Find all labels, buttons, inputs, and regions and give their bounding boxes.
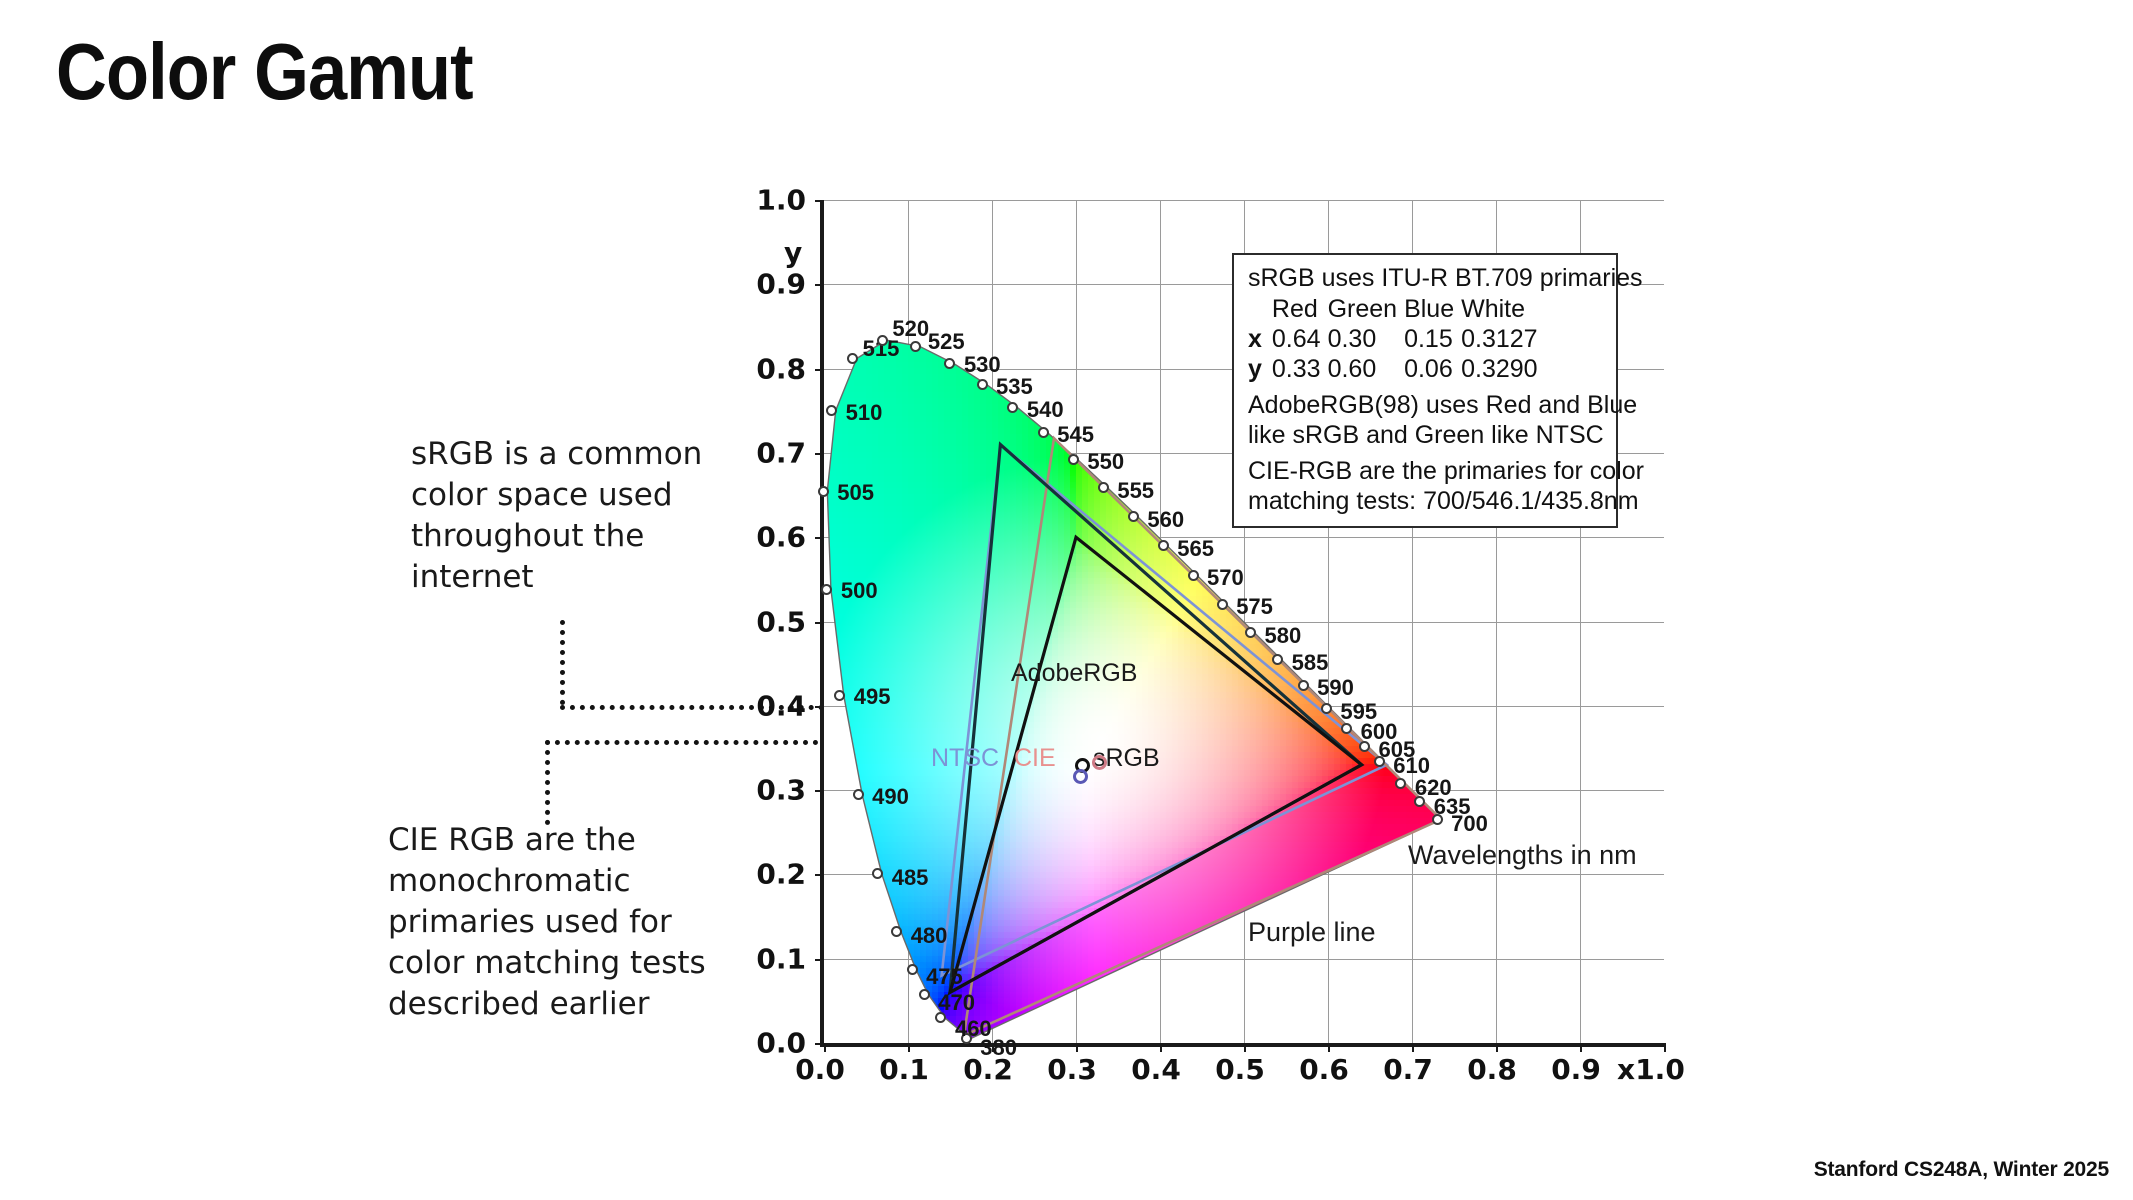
x-axis-tick: [1076, 1043, 1078, 1052]
wavelength-marker: [977, 379, 988, 390]
info-cierbg-line-2: matching tests: 700/546.1/435.8nm: [1248, 486, 1604, 516]
wavelength-label: 495: [854, 684, 891, 710]
wavelength-label: 580: [1265, 623, 1302, 649]
wavelength-marker: [1068, 454, 1079, 465]
cell-x-green: 0.30: [1328, 324, 1404, 354]
y-tick-label: 0.4: [756, 689, 806, 722]
y-tick-label: 0.9: [756, 268, 806, 301]
wavelength-marker: [818, 486, 829, 497]
wavelength-label: 500: [841, 578, 878, 604]
x-tick-label: 0.6: [1299, 1053, 1349, 1086]
y-axis-name: y: [784, 236, 802, 269]
wavelength-label: 520: [892, 316, 929, 342]
cell-x-blue: 0.15: [1404, 324, 1461, 354]
x-axis-tick: [1328, 1043, 1330, 1052]
cell-y-green: 0.60: [1328, 354, 1404, 384]
wavelength-label: 585: [1292, 650, 1329, 676]
header-green: Green: [1328, 294, 1404, 324]
x-axis-tick: [1580, 1043, 1582, 1052]
x-axis-tick: [1664, 1043, 1666, 1052]
y-axis-tick: [815, 284, 824, 286]
annotation-srgb-text: sRGB is a common color space used throug…: [411, 434, 731, 598]
wavelength-label: 545: [1057, 422, 1094, 448]
x-tick-label: 1.0: [1635, 1053, 1685, 1086]
y-tick-label: 0.0: [756, 1027, 806, 1060]
header-white: White: [1461, 294, 1544, 324]
info-adobergb-line-1: AdobeRGB(98) uses Red and Blue: [1248, 390, 1604, 420]
x-axis-tick: [824, 1043, 826, 1052]
y-axis-tick: [815, 200, 824, 202]
y-axis-tick: [815, 874, 824, 876]
header-red: Red: [1272, 294, 1328, 324]
wavelength-marker: [1217, 599, 1228, 610]
x-tick-label: 0.7: [1383, 1053, 1433, 1086]
cell-x-white: 0.3127: [1461, 324, 1544, 354]
wavelength-label: 575: [1236, 594, 1273, 620]
annotation-cie-text: CIE RGB are the monochromatic primaries …: [388, 820, 708, 1025]
x-axis-tick: [1412, 1043, 1414, 1052]
label-ntsc: NTSC: [931, 744, 999, 773]
table-header-row: Red Green Blue White: [1248, 294, 1545, 324]
info-line-1: sRGB uses ITU-R BT.709 primaries: [1248, 263, 1604, 293]
wavelength-marker: [853, 789, 864, 800]
wavelength-label: 540: [1027, 397, 1064, 423]
y-tick-label: 0.1: [756, 942, 806, 975]
y-axis-tick: [815, 369, 824, 371]
primaries-table: Red Green Blue White x 0.64 0.30 0.15 0.…: [1248, 294, 1545, 384]
x-tick-label: 0.9: [1551, 1053, 1601, 1086]
x-axis-name: x: [1617, 1053, 1635, 1086]
slide-root: Color Gamut sRGB is a common color space…: [0, 0, 2133, 1200]
wavelength-label: 490: [872, 784, 909, 810]
wavelength-label: 550: [1087, 449, 1124, 475]
page-title: Color Gamut: [56, 26, 473, 118]
white-point-ntsc: [1073, 769, 1088, 784]
label-cie: CIE: [1014, 744, 1056, 773]
y-tick-label: 0.8: [756, 352, 806, 385]
wavelength-label: 510: [846, 400, 883, 426]
wavelength-marker: [1188, 570, 1199, 581]
x-tick-label: 0.4: [1131, 1053, 1181, 1086]
x-tick-label: 0.1: [879, 1053, 929, 1086]
header-blank: [1248, 294, 1272, 324]
header-blue: Blue: [1404, 294, 1461, 324]
y-axis-tick: [815, 790, 824, 792]
y-axis-tick: [815, 959, 824, 961]
wavelength-label: 470: [938, 990, 975, 1016]
connector-cie-vertical: [545, 740, 550, 825]
y-axis-tick: [815, 453, 824, 455]
wavelength-marker: [1432, 814, 1443, 825]
y-tick-label: 0.3: [756, 774, 806, 807]
label-purple-line: Purple line: [1248, 917, 1376, 948]
wavelength-marker: [834, 690, 845, 701]
wavelength-label: 570: [1207, 565, 1244, 591]
x-tick-label: 0.8: [1467, 1053, 1517, 1086]
wavelength-label: 480: [911, 923, 948, 949]
wavelength-marker: [919, 989, 930, 1000]
wavelength-marker: [1298, 680, 1309, 691]
wavelength-label: 485: [892, 865, 929, 891]
row-label-x: x: [1248, 324, 1272, 354]
connector-srgb-vertical: [560, 620, 565, 705]
x-tick-label: 0.3: [1047, 1053, 1097, 1086]
wavelength-marker: [1098, 482, 1109, 493]
y-tick-label: 1.0: [756, 184, 806, 217]
wavelength-marker: [1395, 778, 1406, 789]
white-point-cie: [1092, 755, 1107, 770]
y-axis-tick: [815, 1043, 824, 1045]
wavelength-marker: [1038, 427, 1049, 438]
info-adobergb-line-2: like sRGB and Green like NTSC: [1248, 420, 1604, 450]
table-row: y 0.33 0.60 0.06 0.3290: [1248, 354, 1545, 384]
wavelength-marker: [1007, 402, 1018, 413]
wavelength-label: 700: [1451, 811, 1488, 837]
x-axis-tick: [1496, 1043, 1498, 1052]
wavelength-marker: [877, 335, 888, 346]
x-axis-tick: [1244, 1043, 1246, 1052]
info-cierbg-line-1: CIE-RGB are the primaries for color: [1248, 456, 1604, 486]
cell-y-red: 0.33: [1272, 354, 1328, 384]
y-tick-label: 0.2: [756, 858, 806, 891]
wavelength-label: 525: [928, 329, 965, 355]
label-wavelengths-in-nm: Wavelengths in nm: [1408, 840, 1637, 871]
y-tick-label: 0.6: [756, 521, 806, 554]
row-label-y: y: [1248, 354, 1272, 384]
table-row: x 0.64 0.30 0.15 0.3127: [1248, 324, 1545, 354]
y-axis-tick: [815, 537, 824, 539]
cell-x-red: 0.64: [1272, 324, 1328, 354]
x-axis-tick: [1160, 1043, 1162, 1052]
y-tick-label: 0.7: [756, 436, 806, 469]
wavelength-label: 560: [1147, 507, 1184, 533]
y-axis-tick: [815, 622, 824, 624]
cell-y-blue: 0.06: [1404, 354, 1461, 384]
wavelength-marker: [1128, 511, 1139, 522]
wavelength-label: 505: [837, 480, 874, 506]
wavelength-marker: [1374, 756, 1385, 767]
x-tick-label: 0.5: [1215, 1053, 1265, 1086]
slide-footer: Stanford CS248A, Winter 2025: [1814, 1158, 2109, 1182]
label-adobergb: AdobeRGB: [1011, 659, 1137, 688]
wavelength-label: 590: [1317, 675, 1354, 701]
wavelength-label: 460: [955, 1016, 992, 1042]
wavelength-label: 555: [1117, 478, 1154, 504]
y-axis-tick: [815, 706, 824, 708]
wavelength-marker: [907, 964, 918, 975]
y-tick-label: 0.5: [756, 605, 806, 638]
info-box: sRGB uses ITU-R BT.709 primaries Red Gre…: [1232, 253, 1618, 528]
wavelength-label: 565: [1177, 536, 1214, 562]
wavelength-marker: [821, 584, 832, 595]
x-axis-tick: [908, 1043, 910, 1052]
cell-y-white: 0.3290: [1461, 354, 1544, 384]
wavelength-marker: [891, 926, 902, 937]
wavelength-label: 475: [926, 964, 963, 990]
